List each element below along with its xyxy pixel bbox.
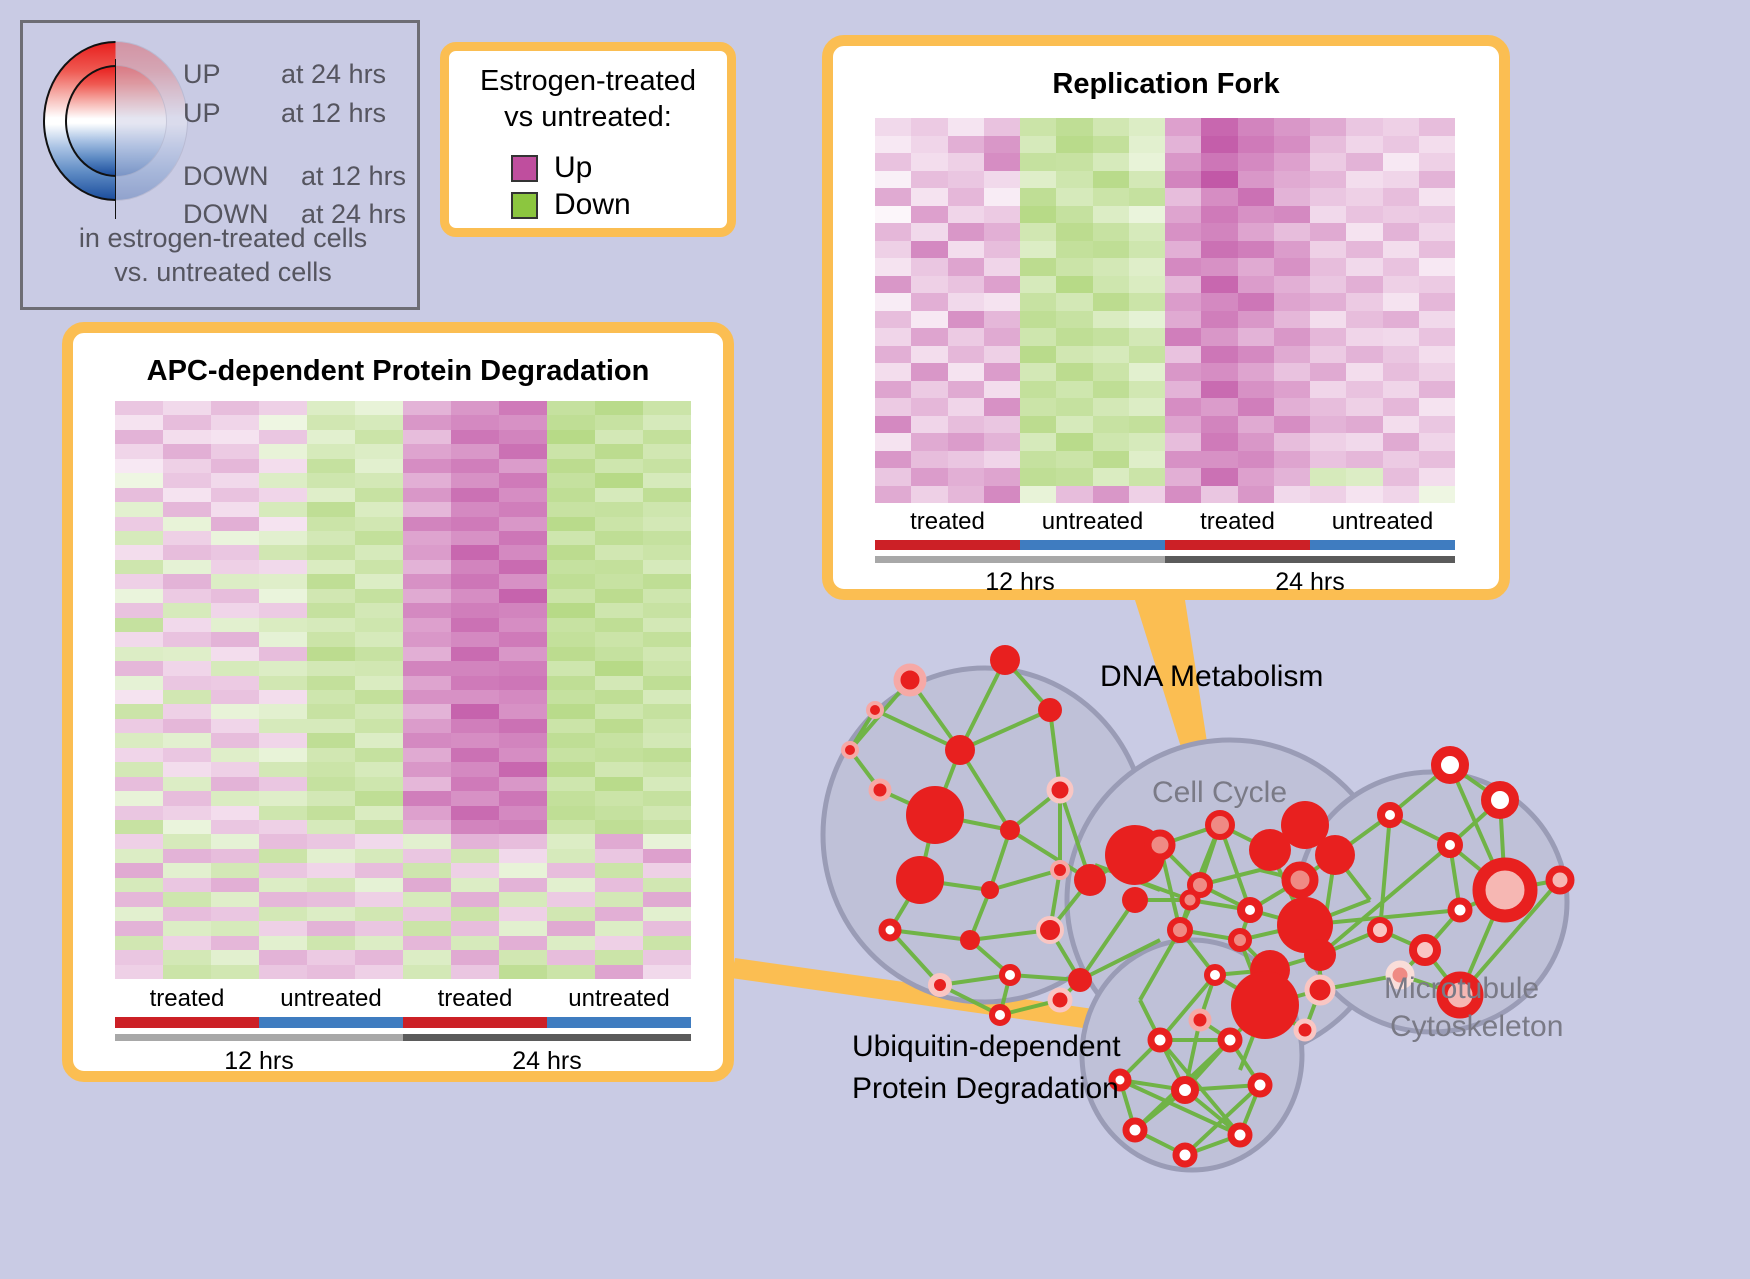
key-title-line1: Estrogen-treated	[449, 63, 727, 99]
network-node	[1286, 866, 1314, 894]
heatmap-cell	[163, 415, 211, 429]
heatmap-cell	[499, 545, 547, 559]
heatmap-cell	[499, 676, 547, 690]
heatmap-cell	[643, 921, 691, 935]
heatmap-cell	[163, 632, 211, 646]
heatmap-cell	[948, 153, 984, 171]
heatmap-cell	[643, 733, 691, 747]
heatmap-cell	[451, 531, 499, 545]
heatmap-cell	[643, 834, 691, 848]
heatmap-cell	[499, 618, 547, 632]
heatmap-cell	[499, 632, 547, 646]
heatmap-cell	[595, 618, 643, 632]
condition-labels-replication-fork: treateduntreatedtreateduntreated	[875, 508, 1455, 536]
heatmap-cell	[1238, 433, 1274, 451]
heatmap-cell	[451, 806, 499, 820]
heatmap-cell	[403, 907, 451, 921]
heatmap-cell	[115, 676, 163, 690]
network-node	[990, 645, 1020, 675]
heatmap-cell	[595, 965, 643, 979]
heatmap-cell	[163, 488, 211, 502]
heatmap-cell	[451, 719, 499, 733]
heatmap-cell	[163, 806, 211, 820]
heatmap-cell	[1383, 346, 1419, 364]
heatmap-cell	[1129, 258, 1165, 276]
heatmap-cell	[307, 459, 355, 473]
heatmap-cell	[499, 444, 547, 458]
heatmap-cell	[355, 834, 403, 848]
heatmap-cell	[355, 936, 403, 950]
heatmap-cell	[1383, 363, 1419, 381]
heatmap-cell	[259, 661, 307, 675]
heatmap-cell	[307, 878, 355, 892]
network-node	[1451, 901, 1469, 919]
heatmap-cell	[1093, 398, 1129, 416]
heatmap-cell	[163, 719, 211, 733]
heatmap-cell	[163, 473, 211, 487]
heatmap-cell	[643, 647, 691, 661]
heatmap-cell	[948, 118, 984, 136]
heatmap-cell	[403, 748, 451, 762]
condition-bar	[403, 1017, 547, 1028]
heatmap-cell	[499, 517, 547, 531]
heatmap-cell	[307, 748, 355, 762]
heatmap-cell	[643, 502, 691, 516]
heatmap-cell	[595, 762, 643, 776]
heatmap-cell	[1165, 293, 1201, 311]
time-label: 12 hrs	[115, 1047, 403, 1076]
heatmap-cell	[259, 950, 307, 964]
network-node	[1068, 968, 1092, 992]
heatmap-cell	[911, 416, 947, 434]
heatmap-cell	[355, 950, 403, 964]
network-svg	[760, 600, 1750, 1279]
heatmap-cell	[1129, 468, 1165, 486]
heatmap-cell	[163, 878, 211, 892]
heatmap-cell	[403, 560, 451, 574]
heatmap-cell	[1093, 328, 1129, 346]
heatmap-cell	[1165, 311, 1201, 329]
heatmap-cell	[355, 719, 403, 733]
heatmap-cell	[643, 806, 691, 820]
heatmap-cell	[355, 603, 403, 617]
heatmap-cell	[875, 346, 911, 364]
heatmap-cell	[355, 488, 403, 502]
heatmap-cell	[451, 415, 499, 429]
heatmap-cell	[1020, 381, 1056, 399]
heatmap-cell	[211, 661, 259, 675]
heatmap-cell	[547, 878, 595, 892]
heatmap-cell	[163, 704, 211, 718]
legend-time-0: at 24 hrs	[281, 59, 386, 90]
heatmap-cell	[307, 488, 355, 502]
heatmap-cell	[163, 517, 211, 531]
heatmap-cell	[307, 965, 355, 979]
heatmap-cell	[547, 936, 595, 950]
heatmap-cell	[163, 661, 211, 675]
heatmap-cell	[595, 936, 643, 950]
heatmap-cell	[948, 363, 984, 381]
network-node	[882, 922, 898, 938]
heatmap-cell	[1056, 153, 1092, 171]
heatmap-cell	[355, 574, 403, 588]
heatmap-cell	[451, 777, 499, 791]
heatmap-cell	[984, 346, 1020, 364]
heatmap-cell	[984, 188, 1020, 206]
heatmap-cell	[911, 381, 947, 399]
heatmap-cell	[547, 863, 595, 877]
heatmap-cell	[1419, 363, 1455, 381]
heatmap-cell	[307, 473, 355, 487]
heatmap-cell	[163, 647, 211, 661]
heatmap-cell	[1346, 276, 1382, 294]
heatmap-cell	[1020, 451, 1056, 469]
network-node	[1126, 1121, 1144, 1139]
heatmap-cell	[595, 777, 643, 791]
heatmap-cell	[163, 921, 211, 935]
heatmap-cell	[499, 907, 547, 921]
heatmap-cell	[1346, 118, 1382, 136]
heatmap-cell	[1093, 118, 1129, 136]
heatmap-cell	[1274, 346, 1310, 364]
network-node	[1074, 864, 1106, 896]
heatmap-cell	[163, 863, 211, 877]
heatmap-cell	[451, 502, 499, 516]
heatmap-cell	[1129, 486, 1165, 504]
heatmap-cell	[163, 574, 211, 588]
heatmap-cell	[875, 468, 911, 486]
heatmap-cell	[403, 430, 451, 444]
heatmap-cell	[1056, 241, 1092, 259]
heatmap-cell	[875, 188, 911, 206]
heatmap-cell	[948, 276, 984, 294]
heatmap-cell	[307, 762, 355, 776]
heatmap-cell	[595, 632, 643, 646]
heatmap-cell	[1056, 416, 1092, 434]
heatmap-cell	[911, 486, 947, 504]
condition-bar	[1020, 540, 1165, 550]
heatmap-cell	[1129, 346, 1165, 364]
heatmap-cell	[1419, 451, 1455, 469]
heatmap-cell	[1020, 293, 1056, 311]
heatmap-cell	[1383, 188, 1419, 206]
network-node	[1002, 967, 1018, 983]
heatmap-cell	[403, 415, 451, 429]
heatmap-cell	[1419, 241, 1455, 259]
heatmap-cell	[1238, 363, 1274, 381]
heatmap-cell	[948, 311, 984, 329]
heatmap-cell	[499, 777, 547, 791]
network-node	[981, 881, 999, 899]
heatmap-cell	[115, 560, 163, 574]
heatmap-cell	[911, 276, 947, 294]
heatmap-cell	[1419, 276, 1455, 294]
heatmap-cell	[1274, 328, 1310, 346]
heatmap-cell	[1201, 486, 1237, 504]
heatmap-cell	[1274, 118, 1310, 136]
heatmap-cell	[211, 401, 259, 415]
heatmap-cell	[211, 531, 259, 545]
heatmap-cell	[1274, 381, 1310, 399]
heatmap-cell	[911, 188, 947, 206]
heatmap-cell	[259, 719, 307, 733]
heatmap-cell	[211, 777, 259, 791]
cluster-label-ubiquitin: Ubiquitin-dependent	[852, 1030, 1121, 1064]
heatmap-cell	[948, 223, 984, 241]
heatmap-cell	[211, 878, 259, 892]
heatmap-cell	[1383, 241, 1419, 259]
heatmap-cell	[984, 276, 1020, 294]
heatmap-cell	[499, 791, 547, 805]
heatmap-cell	[875, 486, 911, 504]
heatmap-cell	[1165, 451, 1201, 469]
heatmap-cell	[911, 433, 947, 451]
heatmap-cell	[1346, 293, 1382, 311]
heatmap-cell	[547, 704, 595, 718]
heatmap-cell	[1201, 328, 1237, 346]
heatmap-cell	[984, 311, 1020, 329]
heatmap-cell	[307, 849, 355, 863]
heatmap-cell	[1129, 188, 1165, 206]
heatmap-cell	[643, 589, 691, 603]
heatmap-cell	[259, 921, 307, 935]
cluster-label-protein-degradation: Protein Degradation	[852, 1072, 1119, 1106]
network-node	[1231, 931, 1249, 949]
heatmap-cell	[307, 950, 355, 964]
heatmap-cell	[1129, 223, 1165, 241]
heatmap-cell	[211, 690, 259, 704]
heatmap-cell	[911, 346, 947, 364]
heatmap-cell	[911, 206, 947, 224]
heatmap-cell	[547, 690, 595, 704]
heatmap-cell	[307, 892, 355, 906]
heatmap-cell	[1310, 346, 1346, 364]
heatmap-cell	[643, 878, 691, 892]
heatmap-cell	[259, 762, 307, 776]
heatmap-cell	[1165, 328, 1201, 346]
heatmap-cell	[1093, 416, 1129, 434]
heatmap-cell	[1201, 311, 1237, 329]
heatmap-cell	[211, 733, 259, 747]
heatmap-cell	[1238, 398, 1274, 416]
heatmap-cell	[911, 241, 947, 259]
heatmap-cell	[115, 545, 163, 559]
heatmap-cell	[499, 488, 547, 502]
heatmap-cell	[643, 704, 691, 718]
heatmap-cell	[1274, 293, 1310, 311]
heatmap-cell	[1419, 468, 1455, 486]
network-node	[1381, 806, 1399, 824]
heatmap-cell	[1419, 416, 1455, 434]
heatmap-cell	[115, 444, 163, 458]
heatmap-cell	[403, 863, 451, 877]
heatmap-cell	[211, 560, 259, 574]
heatmap-cell	[643, 415, 691, 429]
heatmap-cell	[1310, 171, 1346, 189]
heatmap-cell	[307, 589, 355, 603]
heatmap-cell	[499, 502, 547, 516]
heatmap-cell	[1383, 416, 1419, 434]
network-node	[1182, 892, 1198, 908]
heatmap-cell	[355, 907, 403, 921]
heatmap-cell	[1310, 398, 1346, 416]
heatmap-cell	[595, 488, 643, 502]
heatmap-cell	[595, 704, 643, 718]
heatmap-cell	[1274, 276, 1310, 294]
key-label-up: Up	[554, 151, 592, 185]
heatmap-cell	[595, 589, 643, 603]
heatmap-cell	[211, 545, 259, 559]
heatmap-cell	[875, 153, 911, 171]
heatmap-cell	[355, 618, 403, 632]
heatmap-cell	[307, 647, 355, 661]
heatmap-cell	[499, 806, 547, 820]
network-node	[1486, 786, 1514, 814]
heatmap-cell	[1020, 136, 1056, 154]
heatmap-cell	[451, 589, 499, 603]
heatmap-cell	[1238, 223, 1274, 241]
heatmap-cell	[451, 834, 499, 848]
circle-legend-box: UP at 24 hrs UP at 12 hrs DOWN at 12 hrs…	[20, 20, 420, 310]
heatmap-cell	[547, 401, 595, 415]
heatmap-cell	[595, 560, 643, 574]
heatmap-cell	[259, 488, 307, 502]
heatmap-cell	[211, 892, 259, 906]
heatmap-cell	[355, 892, 403, 906]
heatmap-cell	[1093, 241, 1129, 259]
heatmap-cell	[1346, 171, 1382, 189]
heatmap-cell	[643, 517, 691, 531]
heatmap-cell	[451, 863, 499, 877]
heatmap-cell	[259, 459, 307, 473]
heatmap-cell	[499, 719, 547, 733]
heatmap-cell	[948, 398, 984, 416]
heatmap-cell	[499, 459, 547, 473]
heatmap-cell	[1020, 258, 1056, 276]
heatmap-cell	[115, 936, 163, 950]
heatmap-cell	[1020, 363, 1056, 381]
heatmap-cell	[948, 451, 984, 469]
heatmap-cell	[403, 661, 451, 675]
heatmap-cell	[547, 430, 595, 444]
heatmap-cell	[451, 560, 499, 574]
heatmap-cell	[1129, 293, 1165, 311]
heatmap-cell	[355, 704, 403, 718]
network-node	[945, 735, 975, 765]
heatmap-cell	[211, 603, 259, 617]
heatmap-cell	[307, 936, 355, 950]
condition-label: treated	[875, 508, 1020, 536]
network-node	[1191, 1011, 1209, 1029]
heatmap-cell	[163, 777, 211, 791]
heatmap-cell	[355, 589, 403, 603]
heatmap-cell	[595, 806, 643, 820]
heatmap-cell	[1020, 486, 1056, 504]
heatmap-cell	[1238, 153, 1274, 171]
heatmap-cell	[984, 171, 1020, 189]
heatmap-cell	[1383, 328, 1419, 346]
heatmap-cell	[1165, 363, 1201, 381]
heatmap-cell	[451, 921, 499, 935]
heatmap-cell	[259, 733, 307, 747]
heatmap-cell	[984, 381, 1020, 399]
heatmap-cell	[875, 293, 911, 311]
heatmap-cell	[499, 965, 547, 979]
heatmap-cell	[1310, 136, 1346, 154]
heatmap-cell	[1201, 398, 1237, 416]
heatmap-cell	[1020, 346, 1056, 364]
heatmap-cell	[259, 560, 307, 574]
heatmap-cell	[259, 748, 307, 762]
network-node	[1170, 920, 1190, 940]
condition-label: untreated	[1310, 508, 1455, 536]
heatmap-cell	[911, 468, 947, 486]
heatmap-cell	[1093, 486, 1129, 504]
heatmap-cell	[451, 704, 499, 718]
heatmap-cell	[595, 401, 643, 415]
heatmap-cell	[1165, 433, 1201, 451]
heatmap-cell	[259, 690, 307, 704]
heatmap-cell	[1383, 293, 1419, 311]
heatmap-cell	[307, 545, 355, 559]
heatmap-cell	[1056, 433, 1092, 451]
heatmap-cell	[911, 311, 947, 329]
heatmap-cell	[259, 965, 307, 979]
heatmap-cell	[875, 241, 911, 259]
heatmap-cell	[403, 762, 451, 776]
heatmap-cell	[1093, 258, 1129, 276]
heatmap-cell	[547, 632, 595, 646]
heatmap-cell	[115, 950, 163, 964]
heatmap-cell	[595, 849, 643, 863]
heatmap-cell	[1201, 381, 1237, 399]
heatmap-cell	[1056, 468, 1092, 486]
heatmap-cell	[1238, 416, 1274, 434]
legend-direction-0: UP	[183, 59, 221, 90]
heatmap-cell	[403, 719, 451, 733]
heatmap-cell	[1056, 223, 1092, 241]
heatmap-cell	[911, 171, 947, 189]
heatmap-cell	[1274, 258, 1310, 276]
condition-bars-apc	[115, 1017, 691, 1028]
heatmap-cell	[163, 545, 211, 559]
heatmap-cell	[1201, 468, 1237, 486]
heatmap-cell	[948, 188, 984, 206]
heatmap-cell	[1056, 136, 1092, 154]
heatmap-cell	[911, 293, 947, 311]
heatmap-cell	[451, 401, 499, 415]
heatmap-cell	[355, 762, 403, 776]
network-node	[1413, 938, 1437, 962]
heatmap-cell	[1383, 136, 1419, 154]
heatmap-cell	[499, 589, 547, 603]
heatmap-cell	[115, 748, 163, 762]
heatmap-cell	[499, 878, 547, 892]
heatmap-cell	[595, 733, 643, 747]
heatmap-cell	[211, 863, 259, 877]
heatmap-cell	[547, 806, 595, 820]
heatmap-cell	[1020, 311, 1056, 329]
heatmap-cell	[1201, 188, 1237, 206]
up-color-swatch	[511, 155, 538, 182]
heatmap-cell	[451, 473, 499, 487]
heatmap-cell	[115, 415, 163, 429]
heatmap-cell	[1274, 451, 1310, 469]
heatmap-cell	[1346, 241, 1382, 259]
heatmap-cell	[355, 502, 403, 516]
heatmap-cell	[1419, 346, 1455, 364]
heatmap-cell	[1093, 363, 1129, 381]
